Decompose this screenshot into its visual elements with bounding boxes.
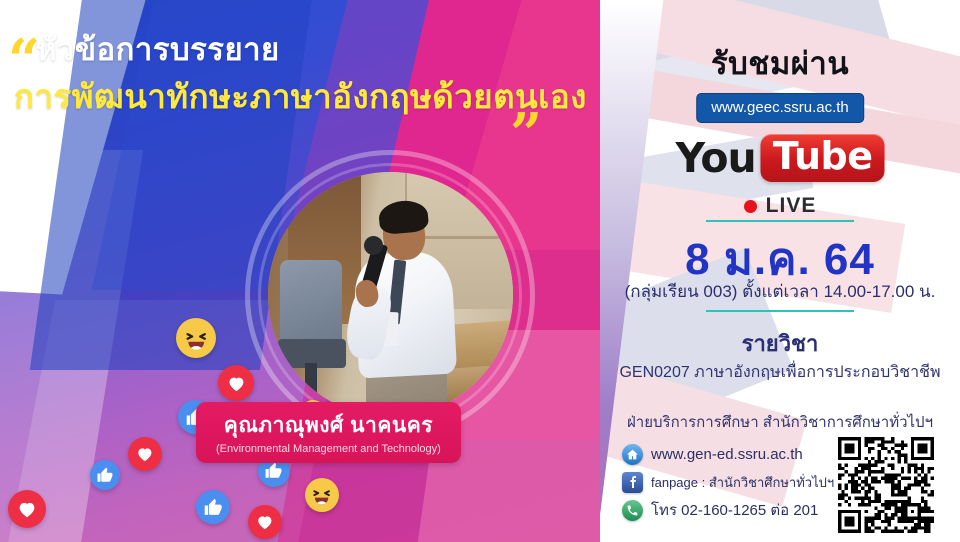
live-label: LIVE: [766, 194, 817, 218]
quote-close-icon: ”: [510, 106, 542, 162]
youtube-logo[interactable]: You Tube: [675, 134, 884, 182]
qr-code[interactable]: [838, 437, 934, 533]
contact-facebook-text: fanpage : สำนักวิชาศึกษาทั่วไปฯ: [651, 472, 834, 493]
reaction-love-icon: [8, 490, 46, 528]
speaker-name: คุณภาณุพงศ์ นาคนคร: [216, 409, 441, 442]
watch-heading: รับชมผ่าน: [600, 38, 960, 88]
contact-row-phone[interactable]: โทร 02-160-1265 ต่อ 201: [622, 496, 837, 524]
divider-bottom: [706, 310, 854, 312]
event-time: (กลุ่มเรียน 003) ตั้งแต่เวลา 14.00-17.00…: [600, 278, 960, 305]
contact-row-website[interactable]: www.gen-ed.ssru.ac.th: [622, 440, 837, 468]
divider-top: [706, 220, 854, 222]
speaker-name-plate: คุณภาณุพงศ์ นาคนคร (Environmental Manage…: [196, 402, 461, 463]
reaction-love-icon: [218, 365, 254, 401]
reaction-love-icon: [248, 505, 282, 539]
live-dot-icon: [744, 200, 757, 213]
live-badge: LIVE: [600, 194, 960, 218]
reaction-like-icon: [196, 490, 230, 524]
facebook-icon: [622, 472, 643, 493]
photo-chair-back: [280, 260, 341, 343]
reaction-haha-icon: [176, 318, 216, 358]
youtube-logo-you: You: [675, 138, 755, 179]
youtube-logo-tube: Tube: [761, 134, 885, 182]
reaction-like-icon: [90, 460, 120, 490]
speaker-photo: [268, 172, 513, 417]
reaction-love-icon: [128, 437, 162, 471]
headline-line-2: การพัฒนาทักษะภาษาอังกฤษด้วยตนเอง: [14, 70, 587, 123]
contact-row-facebook[interactable]: fanpage : สำนักวิชาศึกษาทั่วไปฯ: [622, 468, 837, 496]
organizer-department: ฝ่ายบริการการศึกษา สำนักวิชาการศึกษาทั่ว…: [600, 410, 960, 434]
phone-icon: [622, 500, 643, 521]
poster-canvas: “ หัวข้อการบรรยาย การพัฒนาทักษะภาษาอังกฤ…: [0, 0, 960, 542]
headline-line-1: หัวข้อการบรรยาย: [36, 24, 280, 74]
subject-label: รายวิชา: [600, 326, 960, 361]
qr-code-image: [838, 437, 934, 533]
contact-website-text: www.gen-ed.ssru.ac.th: [651, 446, 803, 463]
contact-list: www.gen-ed.ssru.ac.th fanpage : สำนักวิช…: [622, 440, 837, 524]
reaction-haha-icon: [305, 478, 339, 512]
subject-name: GEN0207 ภาษาอังกฤษเพื่อการประกอบวิชาชีพ: [600, 360, 960, 385]
speaker-affiliation: (Environmental Management and Technology…: [216, 443, 441, 455]
contact-phone-text: โทร 02-160-1265 ต่อ 201: [651, 498, 818, 522]
home-icon: [622, 444, 643, 465]
stream-url-badge[interactable]: www.geec.ssru.ac.th: [696, 93, 864, 123]
